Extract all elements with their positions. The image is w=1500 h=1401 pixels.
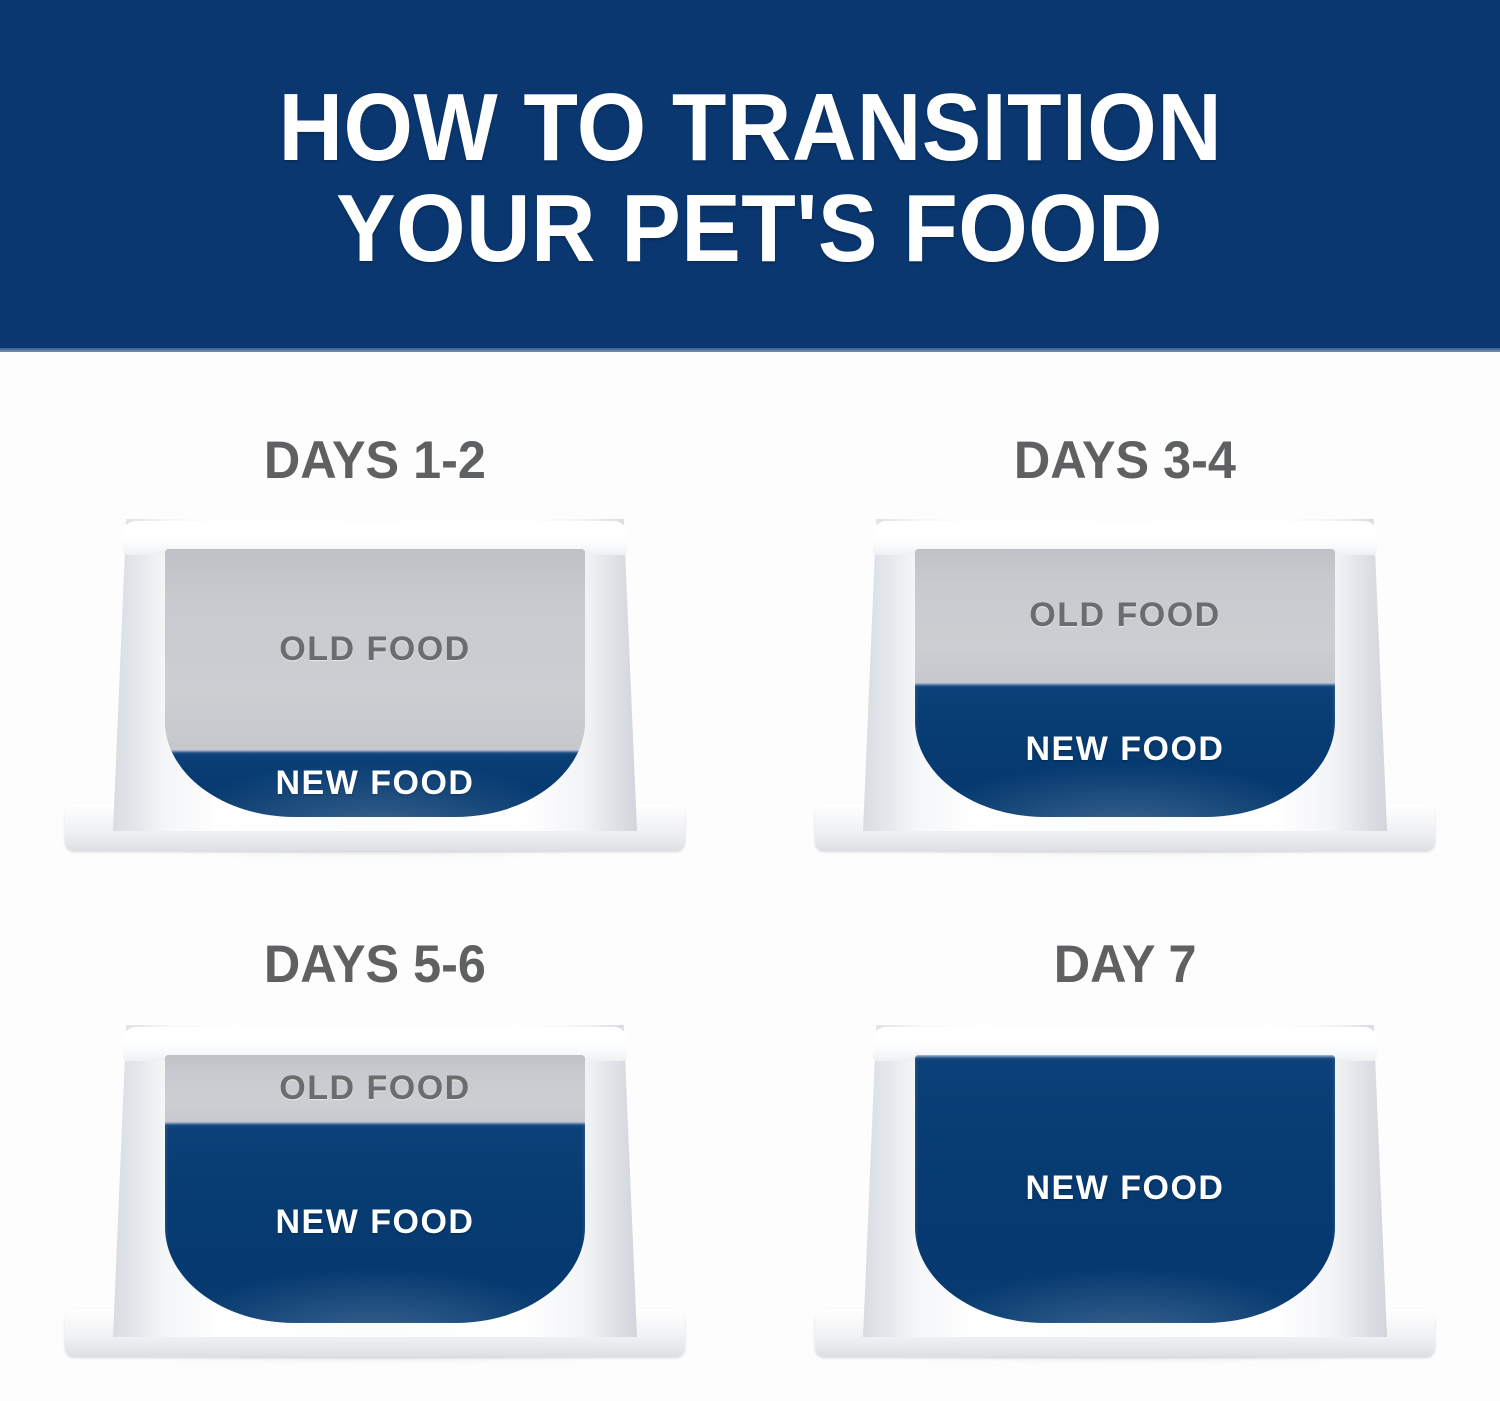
old-food-region: OLD FOOD — [165, 1055, 585, 1122]
new-food-label: NEW FOOD — [165, 764, 585, 803]
infographic-page: HOW TO TRANSITION YOUR PET'S FOOD DAYS 1… — [0, 0, 1500, 1401]
food-well: NEW FOOD — [915, 1055, 1335, 1323]
step-card-days-5-6: DAYS 5-6 OLD FOOD NEW FOOD — [0, 876, 750, 1401]
step-card-days-1-2: DAYS 1-2 OLD FOOD NEW FOOD — [0, 352, 750, 876]
new-food-region: NEW FOOD — [165, 750, 585, 817]
old-food-label: OLD FOOD — [165, 1069, 585, 1108]
step-title: DAYS 1-2 — [264, 430, 486, 491]
old-food-label: OLD FOOD — [915, 596, 1335, 635]
header-banner: HOW TO TRANSITION YOUR PET'S FOOD — [0, 0, 1500, 352]
food-bowl: NEW FOOD — [807, 1025, 1443, 1365]
food-bowl: OLD FOOD NEW FOOD — [57, 1025, 693, 1365]
page-title-line-2: YOUR PET'S FOOD — [337, 179, 1164, 280]
food-well: OLD FOOD NEW FOOD — [165, 549, 585, 817]
step-card-day-7: DAY 7 NEW FOOD — [750, 876, 1500, 1401]
new-food-label: NEW FOOD — [915, 1169, 1335, 1208]
step-card-days-3-4: DAYS 3-4 OLD FOOD NEW FOOD — [750, 352, 1500, 876]
transition-steps-grid: DAYS 1-2 OLD FOOD NEW FOOD — [0, 352, 1500, 1401]
step-title: DAYS 3-4 — [1014, 430, 1236, 491]
new-food-region: NEW FOOD — [915, 1055, 1335, 1323]
food-well: OLD FOOD NEW FOOD — [165, 1055, 585, 1323]
new-food-region: NEW FOOD — [915, 683, 1335, 817]
old-food-region: OLD FOOD — [915, 549, 1335, 683]
page-title-line-1: HOW TO TRANSITION — [278, 78, 1222, 179]
food-well: OLD FOOD NEW FOOD — [915, 549, 1335, 817]
new-food-label: NEW FOOD — [165, 1203, 585, 1242]
old-food-region: OLD FOOD — [165, 549, 585, 750]
new-food-label: NEW FOOD — [915, 730, 1335, 769]
food-bowl: OLD FOOD NEW FOOD — [57, 519, 693, 859]
step-title: DAY 7 — [1054, 934, 1197, 995]
step-title: DAYS 5-6 — [264, 934, 486, 995]
new-food-region: NEW FOOD — [165, 1122, 585, 1323]
food-bowl: OLD FOOD NEW FOOD — [807, 519, 1443, 859]
old-food-label: OLD FOOD — [165, 630, 585, 669]
